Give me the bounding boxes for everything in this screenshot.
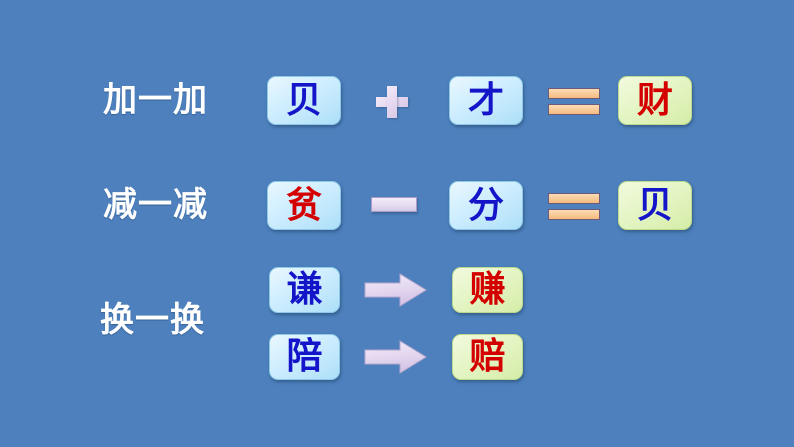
arrow-right-icon bbox=[364, 272, 428, 308]
arrow-right-icon bbox=[364, 339, 428, 375]
tile-subtract-operand-1[interactable]: 贫 bbox=[267, 181, 341, 230]
tile-swap-target-1[interactable]: 赚 bbox=[452, 267, 523, 313]
tile-char: 赚 bbox=[469, 271, 505, 307]
row-label-add: 加一加 bbox=[103, 83, 208, 117]
tile-char: 谦 bbox=[286, 271, 322, 307]
tile-char: 财 bbox=[637, 82, 673, 118]
tile-char: 贝 bbox=[637, 187, 673, 223]
plus-icon bbox=[376, 86, 408, 118]
tile-swap-source-2[interactable]: 陪 bbox=[269, 334, 340, 380]
tile-swap-source-1[interactable]: 谦 bbox=[269, 267, 340, 313]
row-label-subtract: 减一减 bbox=[103, 188, 208, 222]
tile-char: 贫 bbox=[286, 187, 322, 223]
equals-icon bbox=[548, 88, 600, 115]
minus-icon bbox=[371, 197, 417, 212]
tile-char: 贝 bbox=[286, 82, 322, 118]
tile-subtract-result[interactable]: 贝 bbox=[618, 181, 692, 230]
tile-subtract-operand-2[interactable]: 分 bbox=[449, 181, 523, 230]
tile-char: 分 bbox=[468, 187, 504, 223]
row-label-swap: 换一换 bbox=[100, 303, 205, 337]
tile-char: 赔 bbox=[469, 338, 505, 374]
tile-add-operand-1[interactable]: 贝 bbox=[267, 76, 341, 125]
tile-char: 陪 bbox=[286, 338, 322, 374]
equals-icon bbox=[548, 193, 600, 220]
tile-char: 才 bbox=[468, 82, 504, 118]
tile-add-operand-2[interactable]: 才 bbox=[449, 76, 523, 125]
tile-swap-target-2[interactable]: 赔 bbox=[452, 334, 523, 380]
tile-add-result[interactable]: 财 bbox=[618, 76, 692, 125]
slide-canvas: 加一加 贝 才 财 减一减 贫 分 贝 换一换 谦 bbox=[0, 0, 794, 447]
